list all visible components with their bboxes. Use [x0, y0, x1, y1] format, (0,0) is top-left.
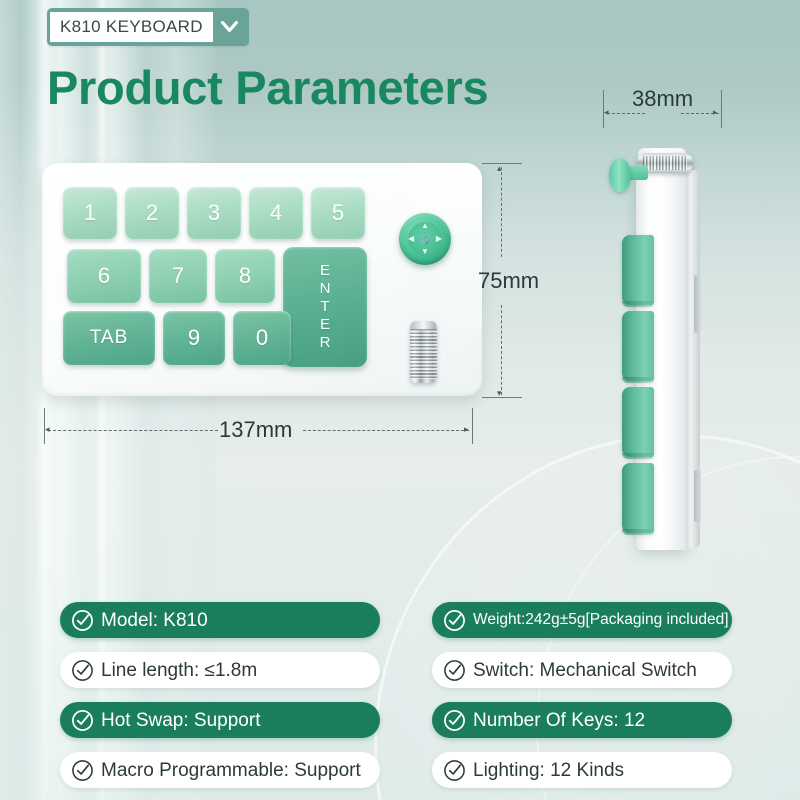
- dpad-joystick-face: ▲ ▼ ◀ ▶ ⚓: [408, 222, 442, 256]
- key-label: 1: [84, 200, 96, 226]
- key-label: 7: [172, 263, 184, 289]
- spec-label: Line length: ≤1.8m: [101, 661, 257, 680]
- key-1[interactable]: 1: [63, 187, 117, 239]
- height-dim-cap-top: [482, 163, 522, 164]
- key-3[interactable]: 3: [187, 187, 241, 239]
- height-dim-line-top: [501, 167, 502, 257]
- depth-dim-arrow-right: ▸: [713, 108, 718, 117]
- spec-pill-model: Model: K810: [60, 602, 380, 638]
- check-circle-icon: [443, 659, 466, 682]
- check-circle-icon: [443, 609, 466, 632]
- width-dim-tick-right: [472, 408, 473, 444]
- spec-list: Model: K810 Weight:242g±5g[Packaging inc…: [60, 602, 760, 792]
- height-dim-line-bottom: [501, 305, 502, 395]
- side-view-rail-notch-upper: [694, 275, 701, 333]
- key-label: 4: [270, 200, 282, 226]
- key-enter[interactable]: ENTER: [283, 247, 367, 367]
- dpad-down-arrow-icon: ▼: [421, 248, 429, 256]
- check-circle-icon: [71, 609, 94, 632]
- product-name-badge[interactable]: K810 KEYBOARD: [47, 8, 249, 46]
- side-keycap: [622, 463, 654, 533]
- side-keycap: [622, 235, 654, 305]
- depth-dim-line-left: [607, 113, 645, 114]
- side-keycap: [622, 311, 654, 381]
- spec-label: Number Of Keys: 12: [473, 711, 645, 730]
- spec-pill-line-length: Line length: ≤1.8m: [60, 652, 380, 688]
- check-circle-icon: [71, 709, 94, 732]
- keyboard-side-view: [600, 140, 750, 560]
- key-2[interactable]: 2: [125, 187, 179, 239]
- spec-label: Macro Programmable: Support: [101, 761, 361, 780]
- spec-pill-weight: Weight:242g±5g[Packaging included]: [432, 602, 732, 638]
- width-dim-arrow-left: ◂: [45, 425, 50, 434]
- dpad-joystick-icon[interactable]: ▲ ▼ ◀ ▶ ⚓: [399, 213, 451, 265]
- dpad-up-arrow-icon: ▲: [421, 222, 429, 230]
- spec-pill-switch: Switch: Mechanical Switch: [432, 652, 732, 688]
- key-label: TAB: [90, 327, 129, 349]
- side-keycap: [622, 387, 654, 457]
- dpad-center-icon: ⚓: [418, 234, 432, 245]
- check-circle-icon: [71, 659, 94, 682]
- side-view-rail-notch-lower: [694, 470, 701, 522]
- spec-pill-macro-programmable: Macro Programmable: Support: [60, 752, 380, 788]
- key-label: 0: [256, 325, 268, 351]
- check-circle-icon: [443, 709, 466, 732]
- key-8[interactable]: 8: [215, 249, 275, 303]
- scroll-wheel-side-ridges: [643, 156, 687, 170]
- depth-dimension-label: 38mm: [632, 86, 693, 112]
- key-7[interactable]: 7: [149, 249, 207, 303]
- key-label: ENTER: [318, 262, 333, 352]
- check-circle-icon: [71, 759, 94, 782]
- width-dim-arrow-right: ▸: [464, 425, 469, 434]
- key-5[interactable]: 5: [311, 187, 365, 239]
- spec-label: Hot Swap: Support: [101, 711, 260, 730]
- height-dim-arrow-top: ▴: [497, 164, 502, 173]
- spec-pill-hot-swap: Hot Swap: Support: [60, 702, 380, 738]
- height-dimension-label: 75mm: [478, 268, 539, 294]
- spec-label: Model: K810: [101, 611, 208, 630]
- joystick-knob-head[interactable]: [609, 158, 631, 192]
- key-6[interactable]: 6: [67, 249, 141, 303]
- key-label: 9: [188, 325, 200, 351]
- scroll-wheel-top-view[interactable]: [410, 321, 437, 383]
- width-dim-line-left: [48, 430, 218, 431]
- width-dim-line-right: [303, 430, 469, 431]
- product-name-label: K810 KEYBOARD: [50, 12, 213, 43]
- height-dim-arrow-bottom: ▾: [497, 389, 502, 398]
- spec-pill-lighting: Lighting: 12 Kinds: [432, 752, 732, 788]
- page-title: Product Parameters: [47, 62, 488, 114]
- dpad-left-arrow-icon: ◀: [408, 235, 414, 243]
- scroll-wheel-ridges: [410, 329, 437, 379]
- width-dimension-label: 137mm: [219, 417, 292, 443]
- key-0[interactable]: 0: [233, 311, 291, 365]
- spec-label: Switch: Mechanical Switch: [473, 661, 697, 680]
- key-9[interactable]: 9: [163, 311, 225, 365]
- depth-dim-arrow-left: ◂: [604, 108, 609, 117]
- key-label: 2: [146, 200, 158, 226]
- chevron-down-icon[interactable]: [219, 21, 241, 33]
- key-label: 5: [332, 200, 344, 226]
- key-label: 3: [208, 200, 220, 226]
- key-tab[interactable]: TAB: [63, 311, 155, 365]
- height-dim-cap-bottom: [482, 397, 522, 398]
- key-label: 8: [239, 263, 251, 289]
- check-circle-icon: [443, 759, 466, 782]
- side-view-keycaps: [622, 235, 654, 535]
- spec-label: Weight:242g±5g[Packaging included]: [473, 612, 729, 628]
- key-4[interactable]: 4: [249, 187, 303, 239]
- spec-label: Lighting: 12 Kinds: [473, 761, 624, 780]
- dpad-right-arrow-icon: ▶: [436, 235, 442, 243]
- spec-pill-number-of-keys: Number Of Keys: 12: [432, 702, 732, 738]
- key-label: 6: [98, 263, 110, 289]
- depth-dim-tick-right: [721, 90, 722, 128]
- product-parameters-infographic: K810 KEYBOARD Product Parameters ◂ ▸ 38m…: [0, 0, 800, 800]
- keycap-grid: 1 2 3 4 5 6 7 8: [63, 187, 383, 375]
